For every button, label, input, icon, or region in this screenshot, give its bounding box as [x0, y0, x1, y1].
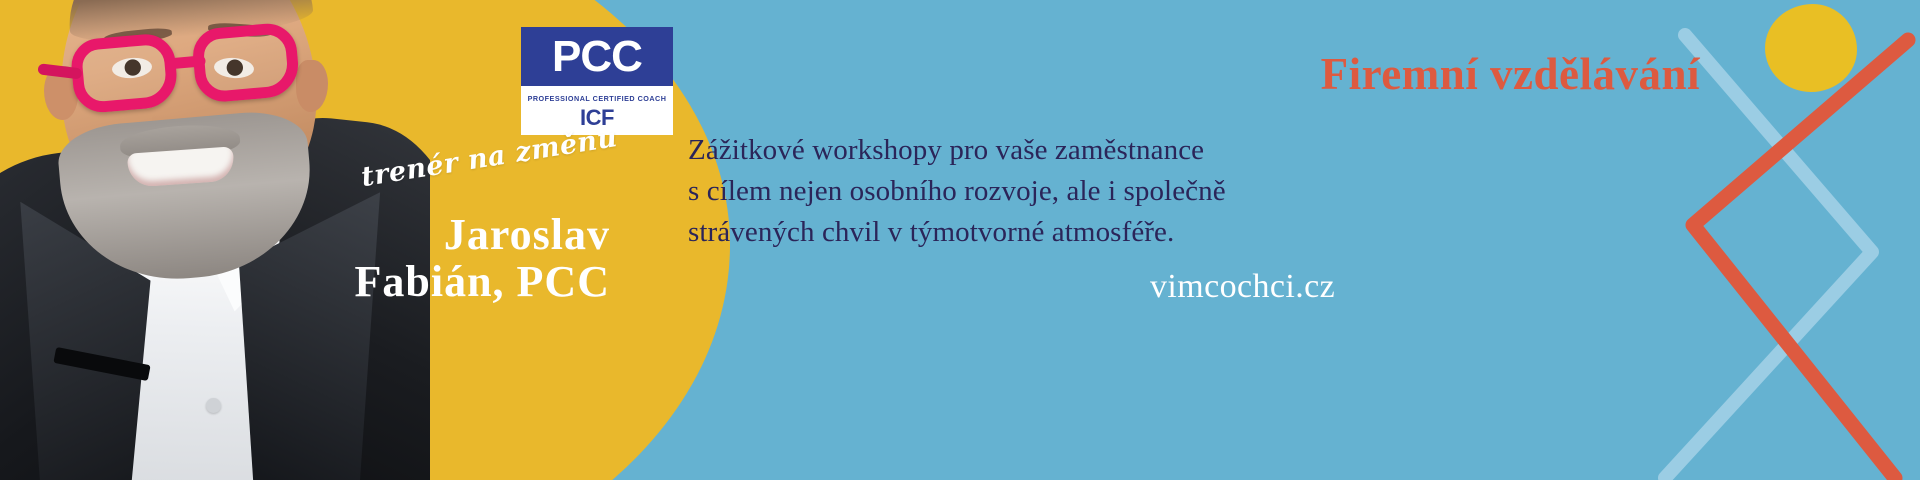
glasses-lens-left	[69, 32, 179, 115]
pcc-logo-top: PCC	[521, 27, 673, 86]
promo-banner: PCC PROFESSIONAL CERTIFIED COACH ICF tre…	[0, 0, 1920, 480]
description-line-1: Zážitkové workshopy pro vaše zaměstnance	[688, 130, 1226, 171]
coach-last-name: Fabián, PCC	[250, 259, 610, 306]
glasses-lens-right	[191, 21, 301, 104]
description-line-2: s cílem nejen osobního rozvoje, ale i sp…	[688, 171, 1226, 212]
yellow-circle-icon	[1765, 4, 1857, 92]
description-line-3: strávených chvil v týmotvorné atmosféře.	[688, 212, 1226, 253]
description-text: Zážitkové workshopy pro vaše zaměstnance…	[688, 130, 1226, 254]
pcc-logo-title: PCC	[552, 35, 642, 79]
coach-first-name: Jaroslav	[250, 212, 610, 259]
pcc-icf-logo: PCC PROFESSIONAL CERTIFIED COACH ICF	[521, 27, 673, 135]
pcc-logo-subtitle: PROFESSIONAL CERTIFIED COACH	[528, 94, 667, 103]
page-title: Firemní vzdělávání	[860, 48, 1700, 100]
coach-name: Jaroslav Fabián, PCC	[250, 212, 610, 305]
suit-button	[206, 398, 221, 413]
website-url-link[interactable]: vimcochci.cz	[1150, 268, 1335, 306]
